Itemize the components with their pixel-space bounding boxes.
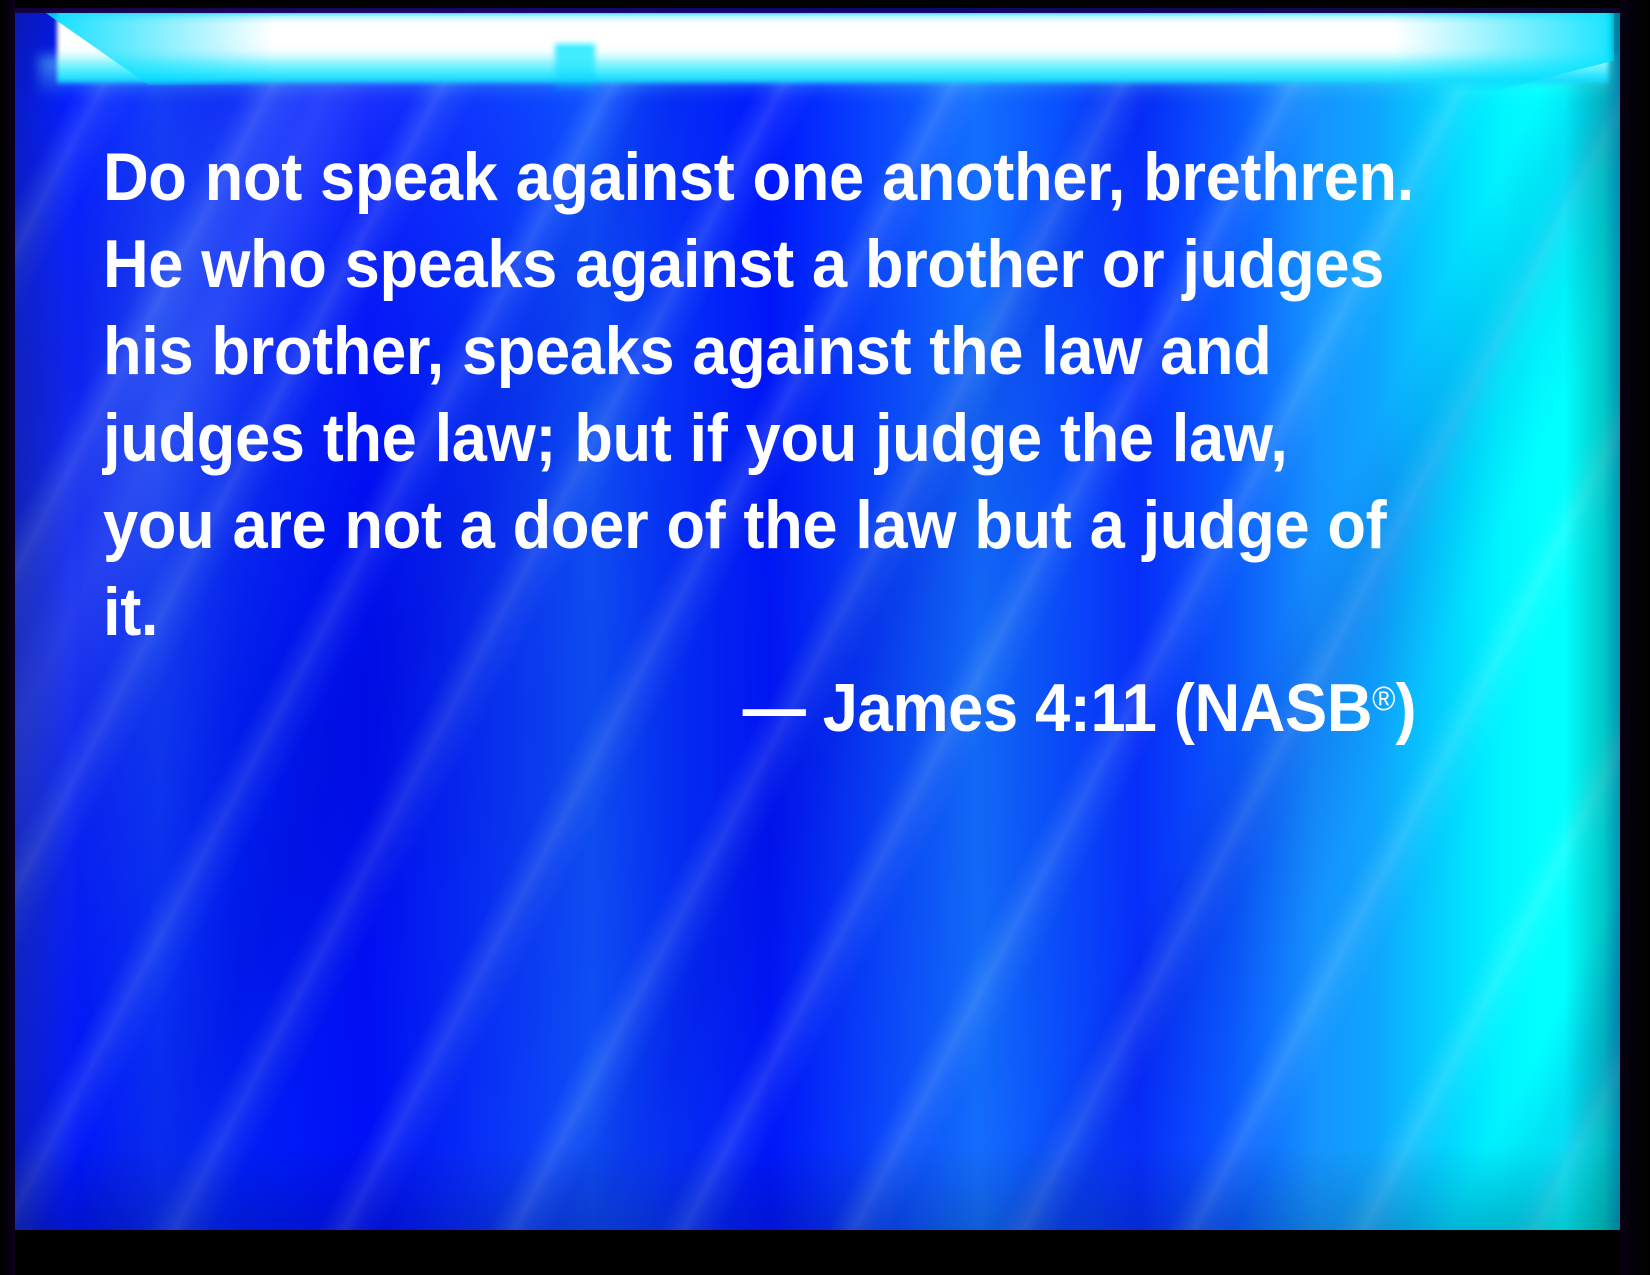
frame-border-top bbox=[0, 0, 1650, 8]
verse-attribution: — James 4:11 (NASB®) bbox=[103, 134, 1416, 752]
top-hairline bbox=[15, 8, 1620, 13]
attribution-reference: James 4:11 (NASB bbox=[823, 670, 1372, 746]
slide-panel: Do not speak against one another, brethr… bbox=[15, 8, 1620, 1230]
bible-verse-slide: Do not speak against one another, brethr… bbox=[0, 0, 1650, 1275]
frame-border-right bbox=[1620, 0, 1650, 1275]
attribution-close-paren: ) bbox=[1395, 670, 1416, 746]
attribution-dash: — bbox=[743, 670, 806, 746]
registered-trademark-icon: ® bbox=[1372, 680, 1395, 718]
frame-border-left bbox=[0, 0, 15, 1275]
frame-border-bottom bbox=[0, 1230, 1650, 1275]
